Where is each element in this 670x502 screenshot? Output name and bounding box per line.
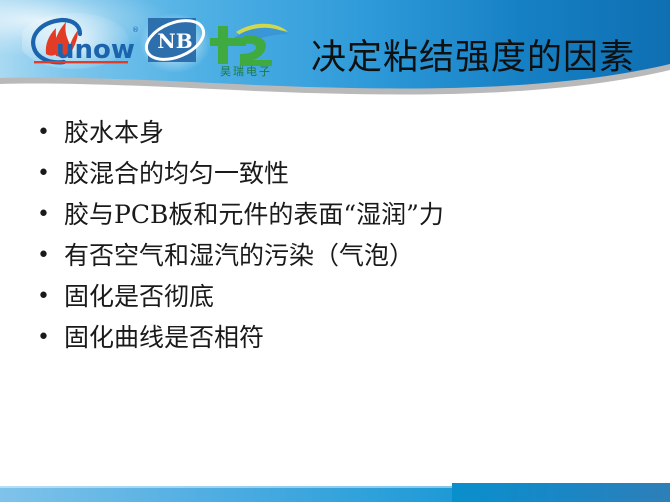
list-item-label: 固化曲线是否相符 [64, 323, 264, 352]
list-item: • 胶混合的均匀一致性 [33, 155, 633, 193]
list-item-label: 胶混合的均匀一致性 [64, 159, 289, 188]
bullet-dot-icon: • [37, 114, 50, 152]
unow-logo: unow ® [22, 12, 142, 70]
list-item-label: 有否空气和湿汽的污染（气泡） [64, 241, 414, 270]
bullet-list: • 胶水本身 • 胶混合的均匀一致性 • 胶与PCB板和元件的表面“湿润”力 •… [33, 114, 633, 360]
list-item: • 胶与PCB板和元件的表面“湿润”力 [33, 196, 633, 234]
list-item: • 有否空气和湿汽的污染（气泡） [33, 237, 633, 275]
unow-wordmark: unow [56, 35, 135, 65]
list-item: • 胶水本身 [33, 114, 633, 152]
haorui-logo: 昊瑞电子 [200, 16, 292, 78]
list-item: • 固化是否彻底 [33, 278, 633, 316]
bullet-dot-icon: • [37, 319, 50, 357]
footer-accent-bar-left [0, 486, 452, 502]
list-item-label: 胶水本身 [64, 118, 164, 147]
list-item-label: 固化是否彻底 [64, 282, 214, 311]
bullet-dot-icon: • [37, 237, 50, 275]
list-item: • 固化曲线是否相符 [33, 319, 633, 357]
footer-accent-bar-right [452, 483, 670, 502]
nb-wordmark: NB [157, 29, 192, 53]
bullet-dot-icon: • [37, 155, 50, 193]
slide-canvas: unow ® NB 昊瑞电子 [0, 0, 670, 502]
bullet-dot-icon: • [37, 196, 50, 234]
haorui-wordmark: 昊瑞电子 [220, 64, 272, 78]
list-item-label: 胶与PCB板和元件的表面“湿润”力 [64, 200, 444, 229]
bullet-dot-icon: • [37, 278, 50, 316]
page-title: 决定粘结强度的因素 [311, 36, 667, 84]
